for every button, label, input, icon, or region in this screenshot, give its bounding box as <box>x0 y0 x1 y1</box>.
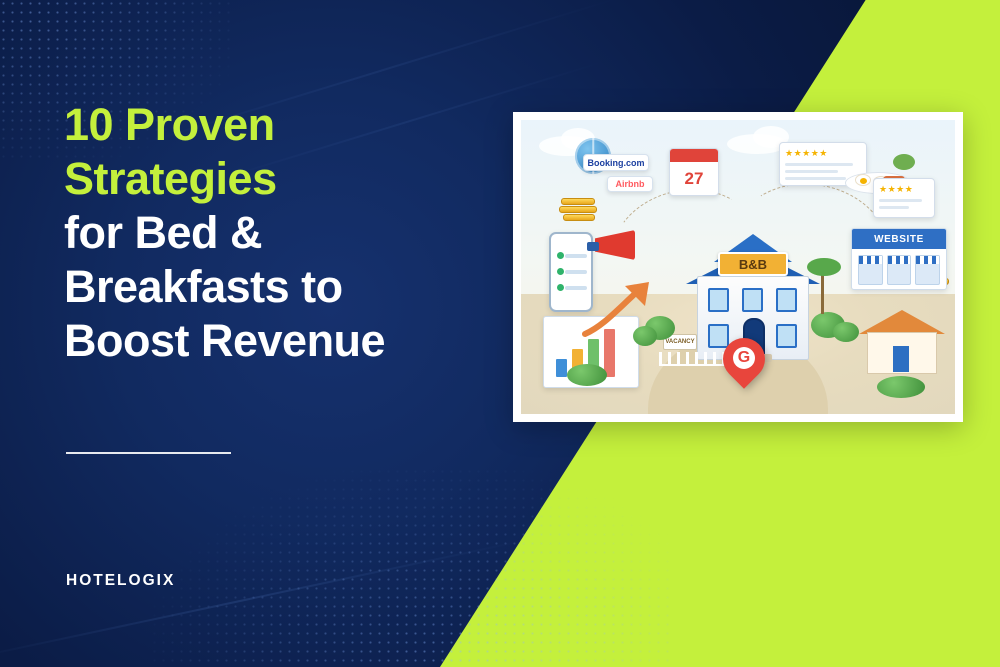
review-text-line <box>785 177 846 180</box>
review-text-line <box>785 170 838 173</box>
rating-text-line <box>879 206 909 209</box>
illustration: Booking.com Airbnb 27 ★★★★★ <box>521 120 955 414</box>
headline-line-1: 10 Proven <box>64 98 504 152</box>
house-window <box>742 288 763 312</box>
leaf-decor <box>893 154 915 170</box>
coin-icon <box>561 198 595 205</box>
rating-text-line <box>879 199 922 202</box>
website-label: WEBSITE <box>852 229 946 249</box>
bush-icon <box>567 364 607 386</box>
awning-icon <box>916 256 939 264</box>
headline-line-2: Strategies <box>64 152 504 206</box>
headline-divider <box>66 452 231 454</box>
headline: 10 Proven Strategies for Bed & Breakfast… <box>64 98 504 368</box>
google-map-pin: G <box>723 338 765 390</box>
shop-door <box>893 346 909 372</box>
megaphone-icon <box>587 224 641 268</box>
calendar-day: 27 <box>670 162 718 196</box>
bush-icon <box>633 326 657 346</box>
website-body <box>852 249 946 290</box>
google-letter: G <box>733 347 755 369</box>
egg-icon <box>855 174 871 186</box>
small-shop-building <box>859 310 945 374</box>
chart-bar <box>556 359 567 377</box>
house-window <box>776 288 797 312</box>
hotelogix-logo: HOTELOGIX <box>66 572 175 590</box>
booking-com-badge: Booking.com <box>583 154 649 171</box>
bush-icon <box>833 322 859 342</box>
rating-card: ★★★★ <box>873 178 935 218</box>
bnb-sign: B&B <box>718 252 788 276</box>
headline-line-5: Boost Revenue <box>64 314 504 368</box>
coin-icon <box>563 214 595 221</box>
dot-pattern-bottom-left <box>150 467 670 667</box>
check-dot-icon <box>557 284 564 291</box>
airbnb-badge: Airbnb <box>607 176 653 192</box>
bush-icon <box>877 376 925 398</box>
shop-roof <box>859 310 945 334</box>
awning-icon <box>859 256 882 264</box>
house-window <box>776 324 797 348</box>
phone-text-line <box>565 254 587 258</box>
awning-icon <box>888 256 911 264</box>
promo-banner: 10 Proven Strategies for Bed & Breakfast… <box>0 0 1000 667</box>
house-window <box>708 288 729 312</box>
coin-icon <box>559 206 597 213</box>
megaphone-horn <box>595 230 635 260</box>
check-dot-icon <box>557 268 564 275</box>
palm-leaves <box>807 258 841 276</box>
headline-line-4: Breakfasts to <box>64 260 504 314</box>
check-dot-icon <box>557 252 564 259</box>
calendar-icon: 27 <box>669 148 719 196</box>
calendar-header <box>670 149 718 162</box>
website-shop-thumb <box>858 255 883 285</box>
rating-stars: ★★★★ <box>879 184 929 195</box>
palm-trunk <box>821 270 824 314</box>
phone-text-line <box>565 270 587 274</box>
website-shop-thumb <box>915 255 940 285</box>
headline-line-3: for Bed & <box>64 206 504 260</box>
picket-fence <box>659 352 729 366</box>
illustration-card: Booking.com Airbnb 27 ★★★★★ <box>513 112 963 422</box>
website-shop-thumb <box>887 255 912 285</box>
website-card: WEBSITE <box>851 228 947 290</box>
megaphone-handle <box>587 242 599 251</box>
